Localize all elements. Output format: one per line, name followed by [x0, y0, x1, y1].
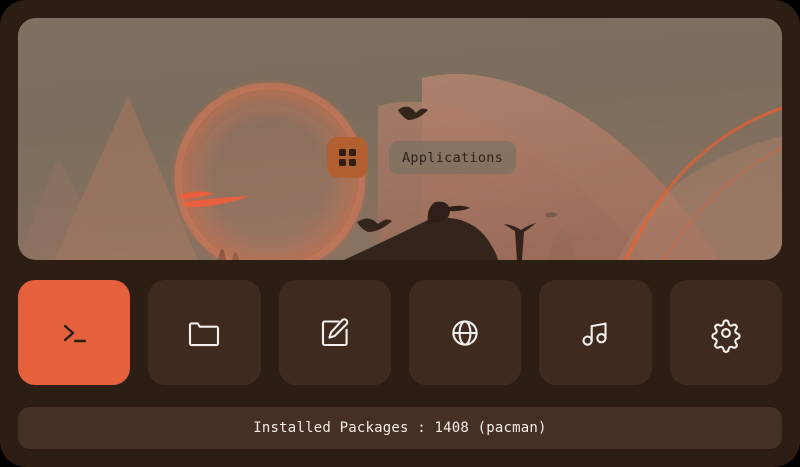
dock-item-web-browser[interactable]	[409, 280, 521, 385]
desktop-shell: Applications	[0, 0, 800, 467]
installed-packages-text: Installed Packages : 1408 (pacman)	[253, 420, 546, 436]
grid-icon	[339, 149, 356, 166]
dock-item-files[interactable]	[148, 280, 260, 385]
globe-icon	[444, 312, 486, 354]
music-note-icon	[574, 312, 616, 354]
gear-icon	[705, 312, 747, 354]
dock-item-text-editor[interactable]	[279, 280, 391, 385]
dock	[18, 280, 782, 385]
pencil-square-icon	[314, 312, 356, 354]
applications-launcher-button[interactable]	[327, 137, 368, 178]
terminal-prompt-icon	[54, 313, 94, 353]
dock-item-settings[interactable]	[670, 280, 782, 385]
installed-packages-status-bar: Installed Packages : 1408 (pacman)	[18, 407, 782, 449]
applications-tooltip-label: Applications	[402, 150, 503, 166]
folder-icon	[183, 312, 225, 354]
wallpaper-artwork	[18, 18, 782, 260]
wallpaper-panel: Applications	[18, 18, 782, 260]
dock-item-terminal[interactable]	[18, 280, 130, 385]
applications-tooltip: Applications	[389, 141, 516, 174]
dock-item-music[interactable]	[539, 280, 651, 385]
